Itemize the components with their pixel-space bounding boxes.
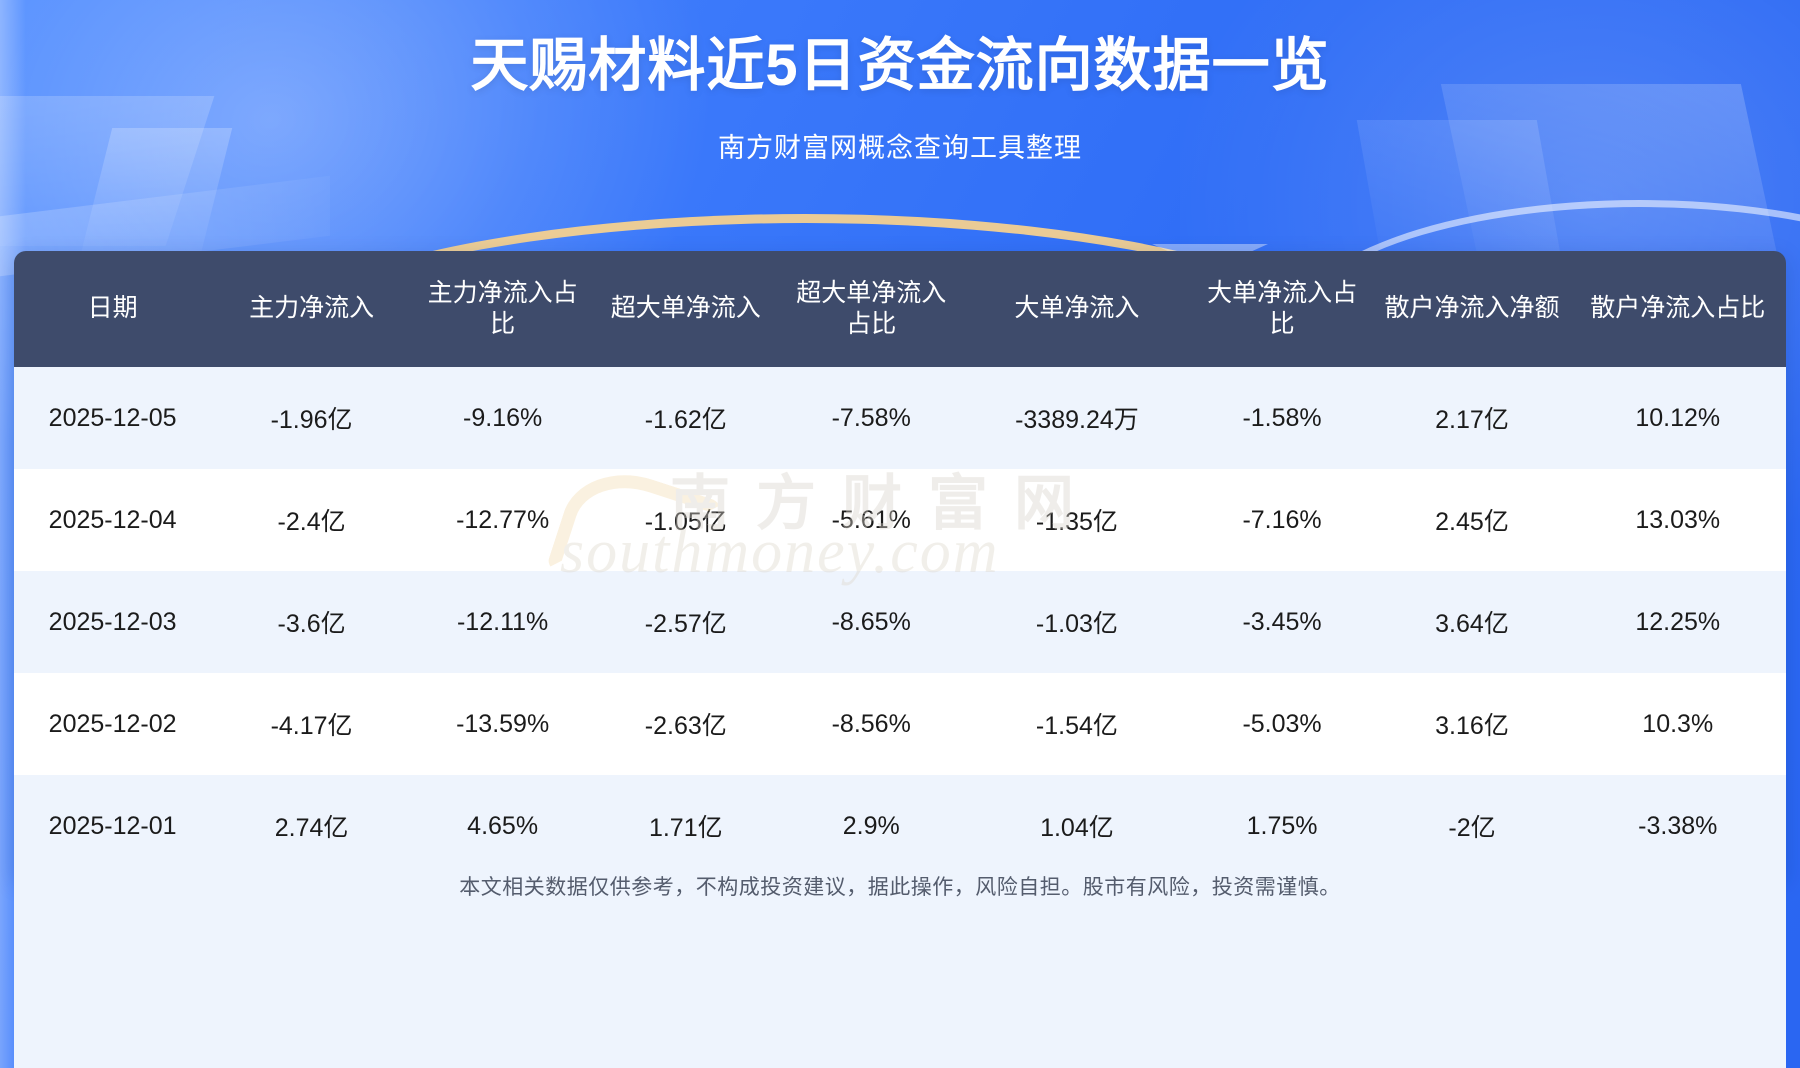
cell-xl-pct: -8.65% [778, 571, 964, 673]
column-header-main-net: 主力净流入 [211, 251, 412, 367]
cell-retail-pct: 10.12% [1570, 367, 1787, 469]
cell-date: 2025-12-05 [14, 367, 211, 469]
cell-retail-pct: 10.3% [1570, 673, 1787, 775]
cell-main-pct: -12.11% [412, 571, 593, 673]
disclaimer-text: 本文相关数据仅供参考，不构成投资建议，据此操作，风险自担。股市有风险，投资需谨慎… [459, 871, 1341, 901]
column-header-xl-net: 超大单净流入 [593, 251, 778, 367]
cell-lg-pct: -5.03% [1190, 673, 1375, 775]
cell-date: 2025-12-02 [14, 673, 211, 775]
footer: 本文相关数据仅供参考，不构成投资建议，据此操作，风险自担。股市有风险，投资需谨慎… [14, 843, 1786, 1068]
cell-date: 2025-12-04 [14, 469, 211, 571]
column-header-retail-net: 散户净流入净额 [1375, 251, 1570, 367]
cell-lg-net: -1.54亿 [964, 673, 1189, 775]
cell-main-pct: -9.16% [412, 367, 593, 469]
cell-retail-pct: 12.25% [1570, 571, 1787, 673]
cell-main-pct: -12.77% [412, 469, 593, 571]
cell-lg-net: -1.35亿 [964, 469, 1189, 571]
cell-xl-net: -1.62亿 [593, 367, 778, 469]
cell-date: 2025-12-03 [14, 571, 211, 673]
cell-retail-pct: 13.03% [1570, 469, 1787, 571]
column-header-retail-pct: 散户净流入占比 [1570, 251, 1787, 367]
table-row: 2025-12-04 -2.4亿 -12.77% -1.05亿 -5.61% -… [14, 469, 1786, 571]
cell-lg-pct: -3.45% [1190, 571, 1375, 673]
column-header-xl-pct: 超大单净流入占比 [778, 251, 964, 367]
page-title: 天赐材料近5日资金流向数据一览 [470, 32, 1329, 100]
cell-xl-net: -2.57亿 [593, 571, 778, 673]
cell-xl-pct: -7.58% [778, 367, 964, 469]
table-row: 2025-12-05 -1.96亿 -9.16% -1.62亿 -7.58% -… [14, 367, 1786, 469]
cell-xl-net: -1.05亿 [593, 469, 778, 571]
table-header: 日期 主力净流入 主力净流入占比 超大单净流入 超大单净流入占比 大单净流入 大… [14, 251, 1786, 367]
cell-retail-net: 2.17亿 [1375, 367, 1570, 469]
cell-main-net: -1.96亿 [211, 367, 412, 469]
column-header-date: 日期 [14, 251, 211, 367]
table-body: 2025-12-05 -1.96亿 -9.16% -1.62亿 -7.58% -… [14, 367, 1786, 877]
cell-retail-net: 2.45亿 [1375, 469, 1570, 571]
cell-xl-pct: -8.56% [778, 673, 964, 775]
page-header: 天赐材料近5日资金流向数据一览 南方财富网概念查询工具整理 [0, 0, 1800, 250]
cell-main-net: -4.17亿 [211, 673, 412, 775]
cell-xl-pct: -5.61% [778, 469, 964, 571]
cell-main-pct: -13.59% [412, 673, 593, 775]
cell-lg-pct: -1.58% [1190, 367, 1375, 469]
column-header-lg-pct: 大单净流入占比 [1190, 251, 1375, 367]
cell-retail-net: 3.64亿 [1375, 571, 1570, 673]
fund-flow-table: 日期 主力净流入 主力净流入占比 超大单净流入 超大单净流入占比 大单净流入 大… [14, 251, 1786, 877]
cell-lg-net: -3389.24万 [964, 367, 1189, 469]
cell-lg-net: -1.03亿 [964, 571, 1189, 673]
data-table-card: 日期 主力净流入 主力净流入占比 超大单净流入 超大单净流入占比 大单净流入 大… [14, 251, 1786, 877]
column-header-lg-net: 大单净流入 [964, 251, 1189, 367]
column-header-main-pct: 主力净流入占比 [412, 251, 593, 367]
table-row: 2025-12-03 -3.6亿 -12.11% -2.57亿 -8.65% -… [14, 571, 1786, 673]
table-row: 2025-12-02 -4.17亿 -13.59% -2.63亿 -8.56% … [14, 673, 1786, 775]
cell-lg-pct: -7.16% [1190, 469, 1375, 571]
cell-retail-net: 3.16亿 [1375, 673, 1570, 775]
cell-main-net: -3.6亿 [211, 571, 412, 673]
table-header-row: 日期 主力净流入 主力净流入占比 超大单净流入 超大单净流入占比 大单净流入 大… [14, 251, 1786, 367]
cell-main-net: -2.4亿 [211, 469, 412, 571]
page-subtitle: 南方财富网概念查询工具整理 [718, 126, 1082, 165]
cell-xl-net: -2.63亿 [593, 673, 778, 775]
